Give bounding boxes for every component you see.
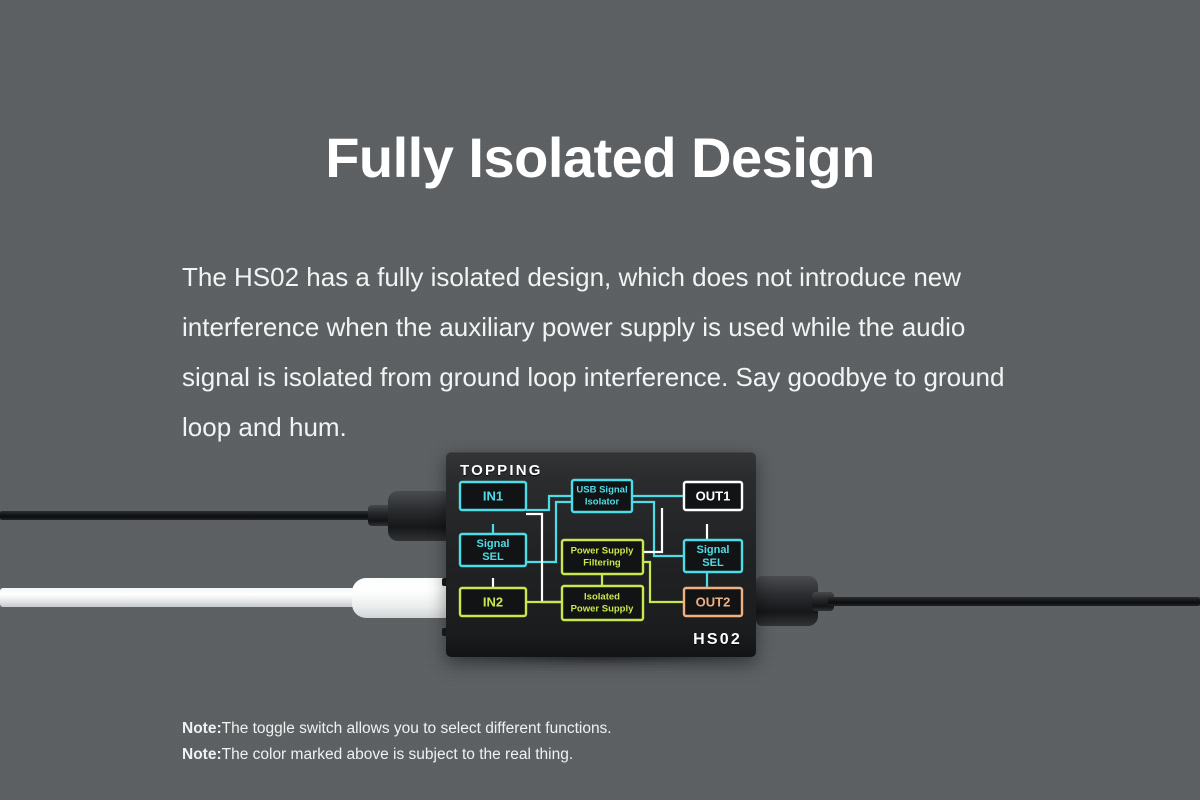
block-power-supply-filtering: Power Supply Filtering: [562, 540, 643, 574]
block-signal-sel-right-line2: SEL: [702, 557, 724, 569]
hs02-device: TOPPING HS02: [446, 452, 756, 657]
body-paragraph: The HS02 has a fully isolated design, wh…: [182, 252, 1027, 452]
block-in2-label: IN2: [483, 594, 503, 609]
block-diagram: IN1 Signal SEL IN2 USB Signal Isolator P…: [446, 452, 756, 657]
block-out1-label: OUT1: [696, 488, 731, 503]
block-signal-sel-left-line1: Signal: [476, 538, 509, 550]
block-isolated-ps-line2: Power Supply: [571, 604, 635, 615]
block-usb-signal-isolator: USB Signal Isolator: [572, 480, 632, 512]
cable-right-black-wire: [828, 597, 1200, 606]
trace-white-psfiltering-up: [643, 508, 662, 552]
block-in1: IN1: [460, 482, 526, 510]
block-out2-label: OUT2: [696, 594, 731, 609]
cable-left-black-wire: [0, 511, 392, 520]
notes-section: Note:The toggle switch allows you to sel…: [182, 716, 612, 768]
cable-left-white-connector: [352, 578, 450, 618]
page-title: Fully Isolated Design: [0, 130, 1200, 186]
cable-left-white-wire: [0, 588, 372, 607]
block-signal-sel-right-line1: Signal: [696, 544, 729, 556]
block-in2: IN2: [460, 588, 526, 616]
cable-right-black-connector: [756, 576, 818, 626]
note-text: The toggle switch allows you to select d…: [222, 720, 612, 737]
block-ps-filtering-line2: Filtering: [583, 558, 621, 569]
note-text: The color marked above is subject to the…: [222, 746, 574, 763]
note-row: Note:The color marked above is subject t…: [182, 742, 612, 768]
block-out1: OUT1: [684, 482, 742, 510]
note-row: Note:The toggle switch allows you to sel…: [182, 716, 612, 742]
block-in1-label: IN1: [483, 488, 503, 503]
block-usb-isolator-line2: Isolator: [585, 497, 620, 508]
block-ps-filtering-line1: Power Supply: [571, 546, 635, 557]
block-isolated-power-supply: Isolated Power Supply: [562, 586, 643, 620]
trace-psfiltering-to-out2: [643, 562, 684, 602]
block-out2: OUT2: [684, 588, 742, 616]
note-label: Note:: [182, 746, 222, 763]
block-usb-isolator-line1: USB Signal: [576, 485, 627, 496]
block-signal-sel-right: Signal SEL: [684, 540, 742, 572]
block-isolated-ps-line1: Isolated: [584, 592, 620, 603]
note-label: Note:: [182, 720, 222, 737]
cable-left-black-connector: [388, 491, 450, 541]
block-signal-sel-left: Signal SEL: [460, 534, 526, 566]
block-signal-sel-left-line2: SEL: [482, 551, 504, 563]
